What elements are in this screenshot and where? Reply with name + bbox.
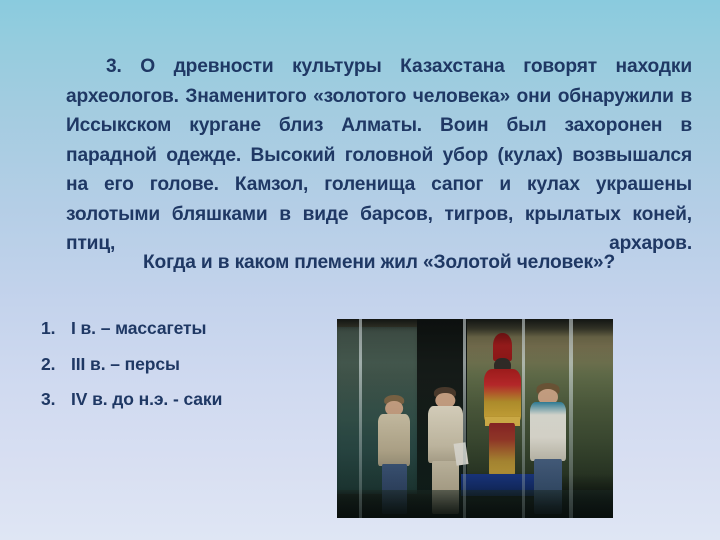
- glass-case-mullion-2: [463, 319, 466, 518]
- golden-man-figure: [481, 333, 525, 478]
- glass-case-mullion-3: [522, 319, 525, 518]
- answer-option-1-label: I в. – массагеты: [71, 311, 326, 347]
- child-right-vest: [530, 402, 566, 461]
- answer-option-1-number: 1.: [41, 311, 71, 347]
- golden-man-kulah-headdress: [493, 333, 512, 361]
- answer-option-2-number: 2.: [41, 347, 71, 383]
- answer-option-2-label: III в. – персы: [71, 347, 326, 383]
- glass-case-mullion-4: [569, 319, 573, 518]
- answer-option-3-label: IV в. до н.э. - саки: [71, 382, 326, 418]
- golden-man-museum-photo: [337, 319, 613, 518]
- presentation-slide: 3. О древности культуры Казахстана говор…: [0, 0, 720, 540]
- answer-option-2[interactable]: 2. III в. – персы: [41, 347, 326, 383]
- glass-case-mullion-1: [359, 319, 362, 518]
- answer-option-3-number: 3.: [41, 382, 71, 418]
- museum-hall-scene: [337, 319, 613, 518]
- answer-options-list: 1. I в. – массагеты 2. III в. – персы 3.…: [41, 311, 326, 418]
- answer-option-3[interactable]: 3. IV в. до н.э. - саки: [41, 382, 326, 418]
- question-text: Когда и в каком племени жил «Золотой чел…: [66, 248, 692, 278]
- golden-man-kamzol-torso: [484, 369, 521, 421]
- answer-option-1[interactable]: 1. I в. – массагеты: [41, 311, 326, 347]
- child-left-jacket: [378, 414, 410, 467]
- golden-man-boots-legs: [489, 423, 515, 478]
